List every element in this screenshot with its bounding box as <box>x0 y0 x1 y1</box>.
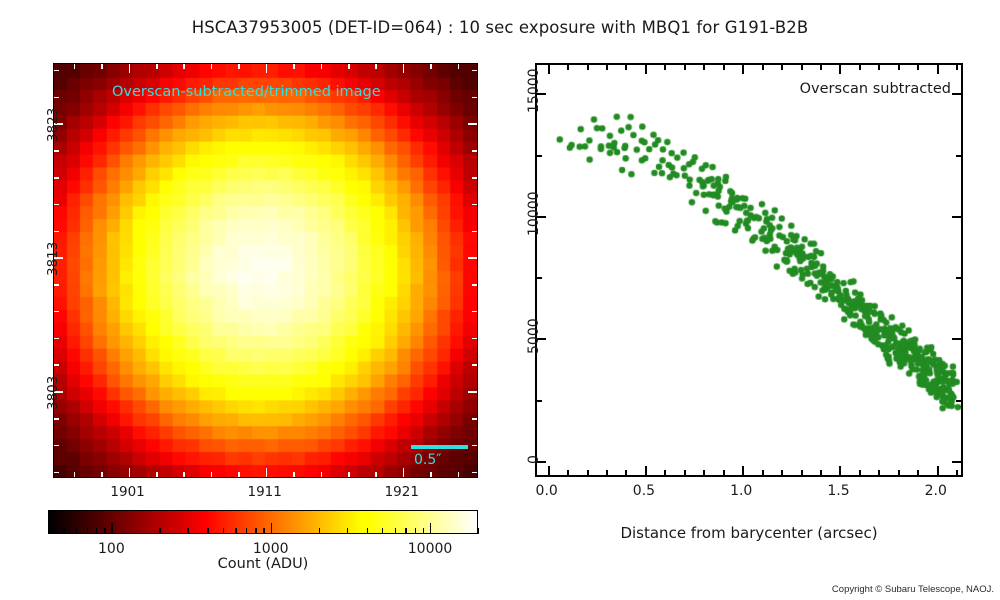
scatter-x-tick <box>664 470 666 475</box>
image-y-tick <box>54 445 59 447</box>
scatter-annotation: Overscan subtracted <box>800 81 951 97</box>
colorbar-tick <box>430 523 431 534</box>
scatter-x-tick <box>801 470 803 475</box>
scatter-x-tick <box>742 65 744 74</box>
scatter-x-tick <box>859 470 861 475</box>
image-x-tick <box>375 64 377 69</box>
colorbar-tick <box>246 528 247 534</box>
scatter-x-tick <box>839 466 841 475</box>
image-y-tick <box>472 97 477 99</box>
scatter-x-tick <box>548 466 550 475</box>
image-x-tick <box>156 64 158 69</box>
colorbar-tick <box>347 528 348 534</box>
image-x-tick <box>293 472 295 477</box>
scatter-x-axis-label: Distance from barycenter (arcsec) <box>535 524 963 542</box>
colorbar-tick <box>405 528 406 534</box>
image-y-tick <box>472 231 477 233</box>
image-x-tick <box>458 472 460 477</box>
copyright-notice: Copyright © Subaru Telescope, NAOJ. <box>832 584 994 595</box>
figure-title: HSCA37953005 (DET-ID=064) : 10 sec expos… <box>0 18 1000 37</box>
scatter-x-tick <box>801 65 803 70</box>
scatter-x-tick <box>878 65 880 70</box>
image-x-tick <box>403 468 405 477</box>
image-y-tick <box>54 364 59 366</box>
scatter-x-tick <box>762 470 764 475</box>
image-x-tick <box>74 64 76 69</box>
image-x-tick-label: 1911 <box>248 484 282 500</box>
image-y-tick <box>472 70 477 72</box>
scatter-x-tick <box>917 470 919 475</box>
colorbar-tick <box>423 528 424 534</box>
image-x-tick <box>238 472 240 477</box>
scatter-x-tick <box>839 65 841 74</box>
colorbar-tick <box>96 528 97 534</box>
colorbar-tick <box>395 528 396 534</box>
colorbar-tick <box>319 528 320 534</box>
scatter-x-tick <box>820 470 822 475</box>
image-x-tick <box>458 64 460 69</box>
image-y-tick <box>472 204 477 206</box>
scatter-x-tick <box>684 65 686 70</box>
scatter-y-tick <box>956 400 961 402</box>
scatter-x-tick <box>898 65 900 70</box>
image-x-tick <box>430 472 432 477</box>
colorbar-tick-label: 10000 <box>408 541 453 557</box>
image-y-tick <box>54 472 59 474</box>
image-x-tick <box>348 64 350 69</box>
colorbar-tick-label: 100 <box>98 541 125 557</box>
image-x-tick-label: 1901 <box>110 484 144 500</box>
radial-profile-panel: Overscan subtracted <box>535 63 963 477</box>
image-x-tick <box>211 472 213 477</box>
colorbar-tick <box>48 528 49 534</box>
image-x-tick <box>183 64 185 69</box>
colorbar-tick <box>478 528 479 534</box>
colorbar-tick <box>271 523 272 534</box>
scatter-x-tick <box>723 65 725 70</box>
colorbar-tick <box>255 528 256 534</box>
scatter-x-tick <box>762 65 764 70</box>
colorbar-tick <box>104 528 105 534</box>
scatter-x-tick-label: 1.0 <box>730 483 752 499</box>
colorbar-tick <box>223 528 224 534</box>
scatter-x-tick <box>820 65 822 70</box>
scale-bar <box>411 445 468 449</box>
scatter-x-tick <box>684 470 686 475</box>
scatter-y-tick-label: 0 <box>526 455 542 464</box>
image-x-tick <box>321 472 323 477</box>
image-y-tick <box>54 70 59 72</box>
scatter-x-tick-label: 2.0 <box>925 483 947 499</box>
overscan-overlay-label: Overscan-subtracted/trimmed image <box>112 84 381 100</box>
scatter-y-tick-label: 10000 <box>526 191 542 236</box>
image-x-tick <box>238 64 240 69</box>
image-x-tick <box>321 64 323 69</box>
scatter-y-tick <box>952 338 961 340</box>
scatter-x-tick <box>606 470 608 475</box>
scatter-x-tick-label: 0.0 <box>536 483 558 499</box>
scatter-x-tick <box>937 65 939 74</box>
scatter-x-tick-label: 0.5 <box>633 483 655 499</box>
image-x-tick <box>266 468 268 477</box>
colorbar-tick-label: 1000 <box>253 541 289 557</box>
scatter-x-tick-label: 1.5 <box>827 483 849 499</box>
image-x-tick <box>74 472 76 477</box>
scatter-y-tick <box>956 155 961 157</box>
image-x-tick <box>101 472 103 477</box>
image-x-tick <box>211 64 213 69</box>
radial-profile-canvas <box>537 65 961 475</box>
colorbar-tick <box>263 528 264 534</box>
image-y-tick <box>472 177 477 179</box>
image-x-tick <box>375 472 377 477</box>
image-x-tick <box>183 472 185 477</box>
colorbar-tick <box>382 528 383 534</box>
image-y-tick <box>54 311 59 313</box>
image-y-tick <box>472 445 477 447</box>
scatter-x-tick <box>645 466 647 475</box>
star-image-panel: Overscan-subtracted/trimmed image 0.5″ <box>53 63 478 478</box>
scatter-x-tick <box>567 470 569 475</box>
scatter-x-tick <box>703 65 705 70</box>
image-y-tick <box>54 97 59 99</box>
scatter-y-tick <box>952 461 961 463</box>
image-y-tick <box>54 177 59 179</box>
image-y-tick-label: 3803 <box>45 376 61 410</box>
colorbar-tick <box>63 528 64 534</box>
image-x-tick <box>266 64 268 73</box>
image-x-tick <box>403 64 405 73</box>
colorbar-tick <box>367 528 368 534</box>
image-y-tick <box>54 338 59 340</box>
scatter-y-tick <box>537 400 542 402</box>
colorbar-tick <box>187 528 188 534</box>
colorbar-tick <box>111 523 112 534</box>
colorbar-tick <box>76 528 77 534</box>
image-x-tick <box>101 64 103 69</box>
scatter-x-tick <box>625 470 627 475</box>
scatter-x-tick <box>567 65 569 70</box>
scatter-x-tick <box>625 65 627 70</box>
scatter-x-tick <box>956 65 958 70</box>
scatter-x-tick <box>548 65 550 74</box>
scatter-x-tick <box>859 65 861 70</box>
colorbar-tick <box>159 528 160 534</box>
scatter-y-tick-label: 5000 <box>526 319 542 355</box>
image-y-tick <box>468 391 477 393</box>
image-y-tick <box>472 364 477 366</box>
star-image-canvas <box>54 64 477 477</box>
scatter-x-tick <box>664 65 666 70</box>
image-y-tick <box>468 123 477 125</box>
image-y-tick <box>54 231 59 233</box>
colorbar-tick <box>235 528 236 534</box>
scatter-y-tick <box>956 277 961 279</box>
image-x-tick <box>430 64 432 69</box>
scatter-x-tick <box>606 65 608 70</box>
scatter-y-tick-label: 15000 <box>526 69 542 114</box>
scatter-x-tick <box>587 470 589 475</box>
scatter-x-tick <box>742 466 744 475</box>
image-y-tick <box>54 284 59 286</box>
scatter-y-tick <box>952 93 961 95</box>
image-y-tick <box>54 204 59 206</box>
scatter-x-tick <box>937 466 939 475</box>
colorbar-tick <box>87 528 88 534</box>
image-y-tick <box>472 150 477 152</box>
image-y-tick <box>54 150 59 152</box>
scatter-x-tick <box>898 470 900 475</box>
image-y-tick <box>472 338 477 340</box>
scatter-y-tick <box>952 216 961 218</box>
image-y-tick <box>472 472 477 474</box>
image-x-tick <box>129 64 131 73</box>
image-y-tick <box>472 311 477 313</box>
image-x-tick <box>293 64 295 69</box>
scatter-x-tick <box>781 470 783 475</box>
scatter-x-tick <box>956 470 958 475</box>
colorbar-tick <box>207 528 208 534</box>
scatter-x-tick <box>723 470 725 475</box>
image-y-tick <box>468 257 477 259</box>
image-y-tick <box>54 418 59 420</box>
scale-bar-label: 0.5″ <box>414 452 442 468</box>
astronomy-figure: HSCA37953005 (DET-ID=064) : 10 sec expos… <box>0 0 1000 600</box>
image-x-tick-label: 1921 <box>385 484 419 500</box>
scatter-y-tick <box>537 155 542 157</box>
image-y-tick-label: 3823 <box>45 108 61 142</box>
scatter-x-tick <box>878 470 880 475</box>
colorbar-tick <box>415 528 416 534</box>
scatter-x-tick <box>703 470 705 475</box>
image-x-tick <box>129 468 131 477</box>
image-y-tick <box>472 284 477 286</box>
scatter-y-tick <box>537 277 542 279</box>
scatter-x-tick <box>917 65 919 70</box>
scatter-x-tick <box>587 65 589 70</box>
image-x-tick <box>348 472 350 477</box>
scatter-x-tick <box>645 65 647 74</box>
image-y-tick <box>472 418 477 420</box>
colorbar-caption: Count (ADU) <box>48 556 478 572</box>
image-x-tick <box>156 472 158 477</box>
scatter-x-tick <box>781 65 783 70</box>
image-y-tick-label: 3813 <box>45 242 61 276</box>
